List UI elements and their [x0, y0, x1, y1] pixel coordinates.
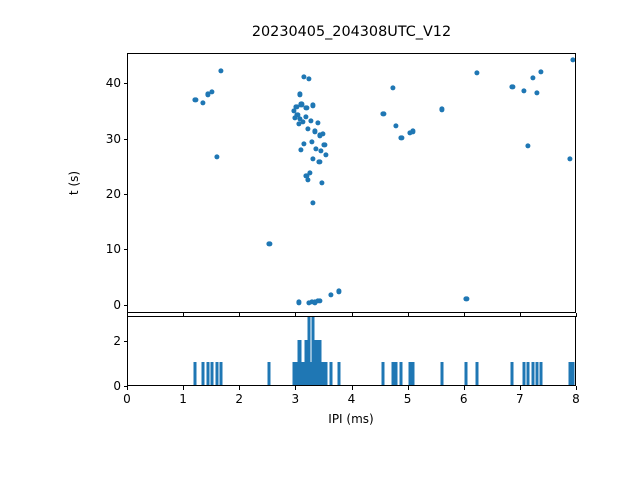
bottom-x-tick-mark [464, 386, 465, 390]
histogram-bar [211, 362, 214, 385]
top-panel-x-axis-ticks [127, 313, 576, 317]
scatter-point [317, 298, 322, 303]
scatter-point [531, 75, 536, 80]
top-x-tick-mark [408, 313, 409, 317]
top-x-tick-mark [464, 313, 465, 317]
top-x-tick-mark [352, 313, 353, 317]
histogram-bar [215, 362, 218, 385]
scatter-point [214, 154, 219, 159]
matplotlib-figure: 20230405_204308UTC_V12 010203040 t (s) 0… [0, 0, 640, 480]
top-panel-y-axis: 010203040 [0, 53, 127, 313]
scatter-point [336, 289, 341, 294]
bottom-panel-x-axis: 012345678 [127, 386, 576, 412]
bottom-x-tick-mark [295, 386, 296, 390]
scatter-point [329, 292, 334, 297]
top-x-tick-mark [127, 313, 128, 317]
scatter-point [464, 296, 469, 301]
scatter-point [308, 118, 313, 123]
histogram-bar [220, 362, 223, 385]
top-y-tick-mark [124, 139, 128, 140]
scatter-point [306, 126, 311, 131]
scatter-point [297, 92, 302, 97]
bottom-x-tick-mark [576, 386, 577, 390]
top-y-tick-label: 0 [113, 298, 121, 312]
scatter-point [303, 114, 308, 119]
histogram-bar [338, 362, 341, 385]
scatter-point [307, 170, 312, 175]
scatter-point [311, 157, 316, 162]
histogram-bar [526, 362, 529, 385]
scatter-point [320, 132, 325, 137]
bottom-x-tick-label: 6 [460, 392, 468, 406]
bottom-x-tick-mark [352, 386, 353, 390]
scatter-point [310, 200, 315, 205]
bottom-x-tick-label: 4 [348, 392, 356, 406]
bottom-x-tick-label: 8 [572, 392, 580, 406]
scatter-point [475, 70, 480, 75]
scatter-point [534, 90, 539, 95]
scatter-point [324, 152, 329, 157]
scatter-point [322, 142, 327, 147]
histogram-bar [330, 362, 333, 385]
histogram-bar [325, 362, 328, 385]
bottom-x-tick-mark [520, 386, 521, 390]
scatter-point [315, 121, 320, 126]
top-y-tick-label: 20 [106, 187, 121, 201]
scatter-point [568, 157, 573, 162]
histogram-bar [511, 362, 514, 385]
bottom-y-tick-mark [124, 341, 128, 342]
top-y-tick-mark [124, 249, 128, 250]
scatter-point [399, 135, 404, 140]
top-x-tick-mark [576, 313, 577, 317]
scatter-point [309, 139, 314, 144]
scatter-point [317, 159, 322, 164]
scatter-point [219, 69, 224, 74]
scatter-point [267, 242, 272, 247]
top-x-tick-mark [520, 313, 521, 317]
top-y-tick-mark [124, 194, 128, 195]
scatter-point [411, 129, 416, 134]
histogram-bar [395, 362, 398, 385]
histogram-bar [201, 362, 204, 385]
histogram-bar [206, 362, 209, 385]
histogram-bar [535, 362, 538, 385]
scatter-axes-panel [127, 53, 576, 313]
bottom-x-tick-label: 0 [123, 392, 131, 406]
histogram-axes-panel [127, 316, 576, 386]
bottom-x-tick-label: 3 [292, 392, 300, 406]
histogram-bar [522, 362, 525, 385]
scatter-point [394, 123, 399, 128]
histogram-bar [412, 362, 415, 385]
scatter-point [320, 180, 325, 185]
scatter-point [296, 300, 301, 305]
bottom-x-tick-label: 1 [179, 392, 187, 406]
bottom-x-tick-mark [408, 386, 409, 390]
top-y-tick-label: 40 [106, 76, 121, 90]
scatter-point [311, 103, 316, 108]
scatter-point [525, 143, 530, 148]
top-y-tick-label: 30 [106, 132, 121, 146]
bottom-x-tick-mark [183, 386, 184, 390]
histogram-bar [571, 362, 574, 385]
scatter-point [570, 57, 575, 62]
top-y-tick-mark [124, 83, 128, 84]
top-panel-y-axis-label: t (s) [67, 171, 81, 195]
histogram-bar [539, 362, 542, 385]
scatter-point [381, 112, 386, 117]
histogram-bar [400, 362, 403, 385]
scatter-point [440, 107, 445, 112]
histogram-bar [268, 362, 271, 385]
top-x-tick-mark [183, 313, 184, 317]
bottom-panel-x-axis-label: IPI (ms) [328, 412, 373, 426]
scatter-point [521, 88, 526, 93]
bottom-x-tick-label: 2 [235, 392, 243, 406]
histogram-bar [476, 362, 479, 385]
top-x-tick-mark [239, 313, 240, 317]
top-x-tick-mark [295, 313, 296, 317]
scatter-point [390, 86, 395, 91]
bottom-x-tick-label: 5 [404, 392, 412, 406]
bottom-y-tick-label: 0 [113, 379, 121, 393]
top-y-tick-label: 10 [106, 242, 121, 256]
scatter-point [307, 76, 312, 81]
histogram-bar [382, 362, 385, 385]
figure-title: 20230405_204308UTC_V12 [127, 24, 576, 41]
histogram-bar [441, 362, 444, 385]
scatter-point [200, 101, 205, 106]
bottom-x-tick-mark [239, 386, 240, 390]
scatter-point [538, 69, 543, 74]
bottom-panel-y-axis: 02 [0, 316, 127, 386]
scatter-point [298, 147, 303, 152]
top-y-tick-mark [124, 305, 128, 306]
scatter-point [193, 97, 198, 102]
histogram-bar [194, 362, 197, 385]
scatter-point [510, 84, 515, 89]
bottom-x-tick-label: 7 [516, 392, 524, 406]
histogram-bar [465, 362, 468, 385]
bottom-x-tick-mark [127, 386, 128, 390]
bottom-y-tick-label: 2 [113, 334, 121, 348]
scatter-point [301, 142, 306, 147]
scatter-point [304, 105, 309, 110]
scatter-point [210, 90, 215, 95]
